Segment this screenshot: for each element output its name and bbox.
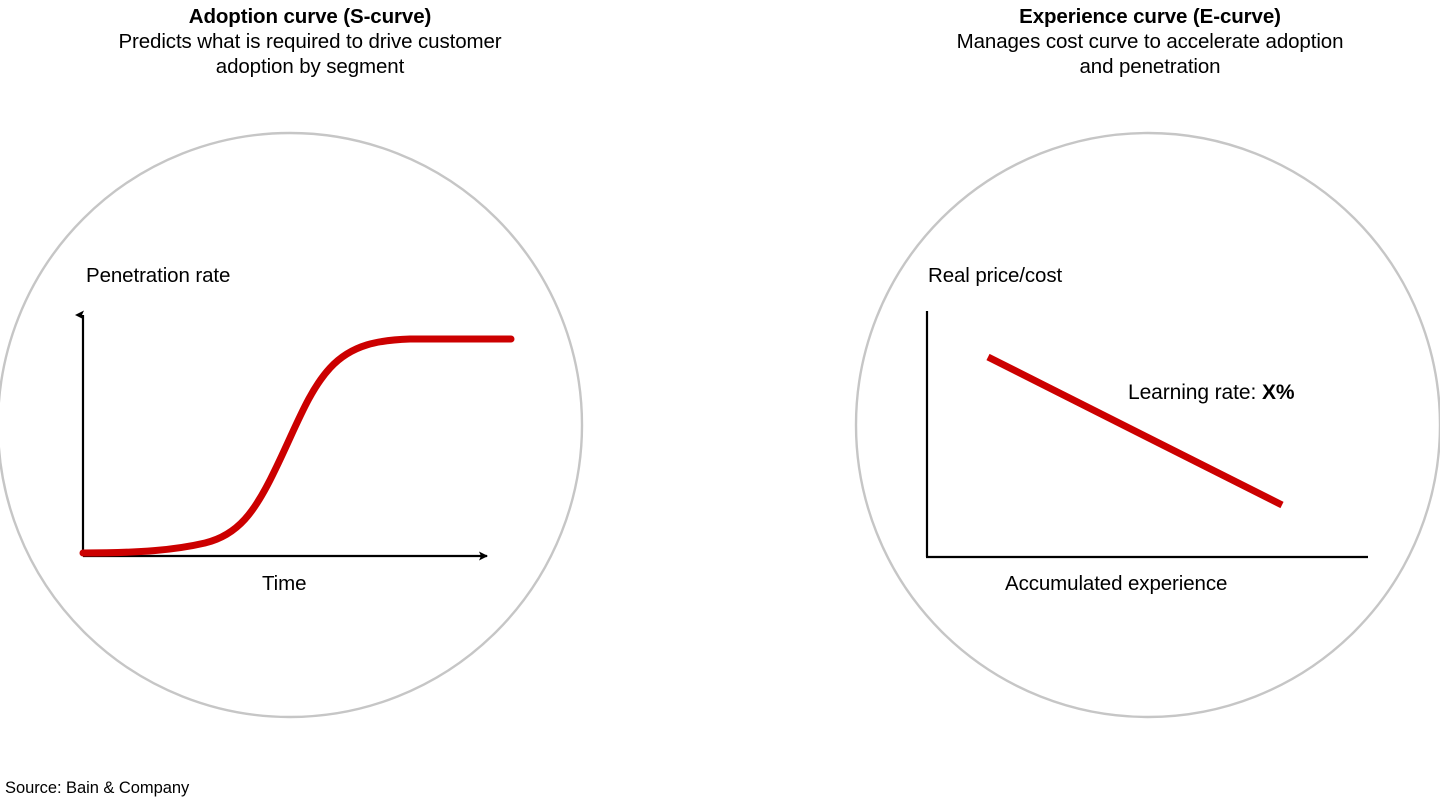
learning-rate-annotation: Learning rate: X% xyxy=(1128,381,1294,405)
panel-subtitle-adoption-line1: Predicts what is required to drive custo… xyxy=(10,29,610,54)
circle-outline-experience xyxy=(856,133,1440,717)
panel-title-experience: Experience curve (E-curve) xyxy=(860,4,1440,29)
panel-subtitle-experience-line2: and penetration xyxy=(860,54,1440,79)
panel-heading-experience: Experience curve (E-curve) Manages cost … xyxy=(860,4,1440,79)
panel-subtitle-experience-line1: Manages cost curve to accelerate adoptio… xyxy=(860,29,1440,54)
panel-subtitle-adoption-line2: adoption by segment xyxy=(10,54,610,79)
y-axis-label-adoption: Penetration rate xyxy=(86,264,230,288)
x-axis-label-adoption: Time xyxy=(262,572,306,596)
y-axis-label-experience: Real price/cost xyxy=(928,264,1062,288)
slide-canvas: Adoption curve (S-curve) Predicts what i… xyxy=(0,0,1440,810)
adoption-s-curve-line xyxy=(83,339,511,553)
experience-e-curve-line xyxy=(988,357,1282,505)
diagram-artwork xyxy=(0,0,1440,810)
panel-heading-adoption: Adoption curve (S-curve) Predicts what i… xyxy=(10,4,610,79)
learning-rate-label: Learning rate: xyxy=(1128,381,1262,404)
circle-outline-adoption xyxy=(0,133,582,717)
source-note: Source: Bain & Company xyxy=(5,779,189,798)
panel-title-adoption: Adoption curve (S-curve) xyxy=(10,4,610,29)
x-axis-label-experience: Accumulated experience xyxy=(1005,572,1227,596)
learning-rate-value: X% xyxy=(1262,381,1294,404)
